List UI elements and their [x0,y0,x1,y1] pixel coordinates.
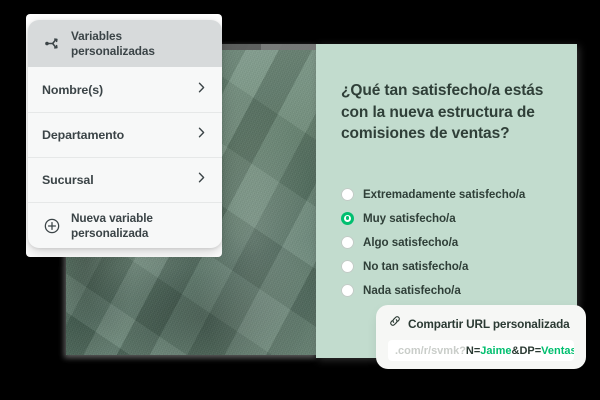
link-chain-icon [388,314,402,333]
url-part-value-department: Ventas [541,345,574,357]
survey-option[interactable]: Nada satisfecho/a [341,279,571,301]
screenshot-stage: ¿Qué tan satisfecho/a estás con la nueva… [0,0,600,400]
menu-item-label: Nueva variable personalizada [71,211,208,240]
plus-circle-icon [41,215,63,237]
share-card-title: Compartir URL personalizada [408,317,570,331]
survey-option[interactable]: Algo satisfecho/a [341,231,571,253]
survey-option-label: Algo satisfecho/a [363,236,458,249]
survey-option-label: Nada satisfecho/a [363,284,461,297]
radio-button-icon[interactable] [341,284,354,297]
radio-button-icon[interactable] [341,188,354,201]
menu-item-label: Departamento [42,128,124,142]
menu-item-sucursal[interactable]: Sucursal [28,157,222,202]
custom-url-input[interactable]: .com/r/svmk? N= Jaime &DP= Ventas [388,340,574,361]
menu-item-nombres[interactable]: Nombre(s) [28,67,222,112]
url-part-value-name: Jaime [480,345,511,357]
survey-option[interactable]: Muy satisfecho/a [341,207,571,229]
url-part-key-n: N= [466,345,480,357]
menu-item-variables-personalizadas[interactable]: Variables personalizadas [28,20,222,67]
survey-question-text: ¿Qué tan satisfecho/a estás con la nueva… [341,80,566,145]
chevron-right-icon [195,171,208,189]
survey-option-label: Muy satisfecho/a [363,212,456,225]
chevron-right-icon [195,126,208,144]
share-card-header: Compartir URL personalizada [388,314,574,333]
survey-option[interactable]: Extremadamente satisfecho/a [341,183,571,205]
chevron-right-icon [195,81,208,99]
menu-item-nueva-variable-personalizada[interactable]: Nueva variable personalizada [28,202,222,248]
survey-option-label: No tan satisfecho/a [363,260,468,273]
url-part-base: .com/r/svmk? [395,345,466,357]
menu-item-departamento[interactable]: Departamento [28,112,222,157]
radio-button-selected-icon[interactable] [341,212,354,225]
radio-button-icon[interactable] [341,260,354,273]
menu-item-label: Variables personalizadas [71,29,208,58]
branch-split-icon [41,33,63,55]
menu-item-label: Sucursal [42,173,94,187]
menu-item-label: Nombre(s) [42,83,103,97]
share-url-card: Compartir URL personalizada .com/r/svmk?… [376,305,586,369]
survey-option-label: Extremadamente satisfecho/a [363,188,525,201]
survey-option[interactable]: No tan satisfecho/a [341,255,571,277]
radio-button-icon[interactable] [341,236,354,249]
url-part-key-dp: &DP= [512,345,542,357]
survey-options-list: Extremadamente satisfecho/a Muy satisfec… [341,183,571,303]
variables-menu-card: Variables personalizadas Nombre(s) Depar… [28,20,222,248]
